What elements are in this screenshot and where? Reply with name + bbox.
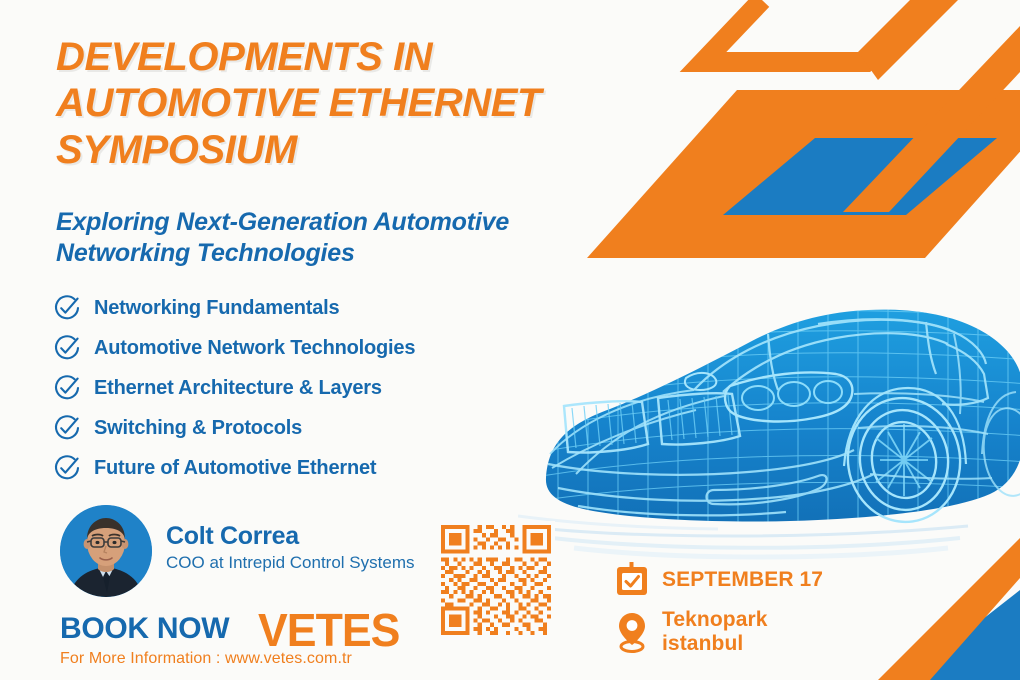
speaker-role: COO at Intrepid Control Systems	[166, 552, 414, 575]
event-location-line-1: Teknopark	[662, 608, 768, 631]
check-circle-icon	[52, 453, 82, 483]
event-info: SEPTEMBER 17 Teknopark istanbul	[612, 562, 823, 666]
event-location-line-2: istanbul	[662, 632, 743, 655]
topic-label: Switching & Protocols	[94, 417, 302, 440]
list-item: Future of Automotive Ethernet	[52, 448, 522, 488]
poster-title: DEVELOPMENTS IN AUTOMOTIVE ETHERNET SYMP…	[56, 34, 656, 173]
speaker-block: Colt Correa COO at Intrepid Control Syst…	[60, 505, 414, 597]
topic-label: Ethernet Architecture & Layers	[94, 377, 382, 400]
list-item: Automotive Network Technologies	[52, 328, 522, 368]
book-now-button[interactable]: BOOK NOW	[60, 612, 229, 646]
event-date-row: SEPTEMBER 17	[612, 562, 823, 598]
list-item: Networking Fundamentals	[52, 288, 522, 328]
qr-code[interactable]	[437, 521, 555, 639]
check-circle-icon	[52, 293, 82, 323]
speaker-text: Colt Correa COO at Intrepid Control Syst…	[166, 523, 414, 579]
check-circle-icon	[52, 373, 82, 403]
avatar	[60, 505, 152, 597]
map-pin-icon	[612, 611, 652, 653]
event-date: SEPTEMBER 17	[662, 568, 823, 592]
subtitle-line-1: Exploring Next-Generation Automotive	[56, 207, 616, 238]
event-location-row: Teknopark istanbul	[612, 608, 823, 656]
title-line-3: SYMPOSIUM	[56, 127, 656, 173]
list-item: Ethernet Architecture & Layers	[52, 368, 522, 408]
topic-list: Networking Fundamentals Automotive Netwo…	[52, 288, 522, 488]
list-item: Switching & Protocols	[52, 408, 522, 448]
check-circle-icon	[52, 413, 82, 443]
subtitle-line-2: Networking Technologies	[56, 238, 616, 269]
poster-canvas: DEVELOPMENTS IN AUTOMOTIVE ETHERNET SYMP…	[0, 0, 1020, 680]
brand-logo-vetes: VETES	[258, 603, 399, 657]
event-location: Teknopark istanbul	[662, 608, 768, 656]
title-line-1: DEVELOPMENTS IN	[56, 34, 656, 80]
topic-label: Future of Automotive Ethernet	[94, 457, 376, 480]
calendar-check-icon	[612, 562, 652, 598]
speaker-name: Colt Correa	[166, 523, 414, 551]
poster-subtitle: Exploring Next-Generation Automotive Net…	[56, 207, 616, 270]
title-line-2: AUTOMOTIVE ETHERNET	[56, 80, 656, 126]
more-information-line[interactable]: For More Information : www.vetes.com.tr	[60, 650, 352, 668]
check-circle-icon	[52, 333, 82, 363]
wireframe-car	[518, 238, 1020, 598]
topic-label: Networking Fundamentals	[94, 297, 339, 320]
topic-label: Automotive Network Technologies	[94, 337, 415, 360]
